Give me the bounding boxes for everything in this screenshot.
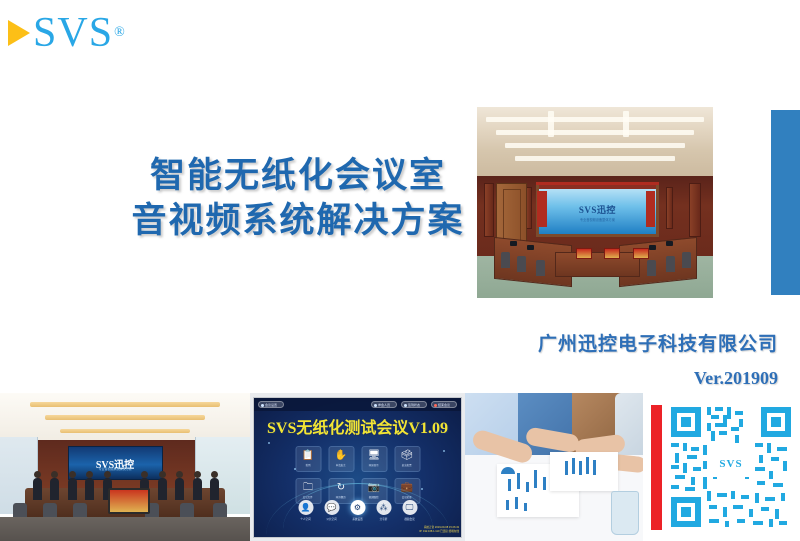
title-line-1: 智能无纸化会议室 [108, 154, 488, 199]
display-icon: 🖵 [402, 500, 417, 515]
page-title: 智能无纸化会议室 音视频系统解决方案 [108, 154, 488, 244]
vote-icon: 🗳 [401, 451, 414, 461]
bottom-image-strip: SVS迅控 专业音视频系统解决方案 [0, 393, 800, 541]
app-tile-表决投票[interactable]: 🗳 表决投票 [394, 446, 420, 472]
accent-bar [771, 110, 800, 295]
led-screen: SVS迅控 专业音视频设备整体方案 [536, 185, 659, 237]
led-screen: SVS迅控 专业音视频系统解决方案 [68, 446, 163, 480]
clipboard-icon: 📋 [302, 451, 314, 461]
floor [0, 517, 250, 541]
dock-label: 公共空间 [326, 517, 336, 521]
panel-paperless-software: 会议设置 参会人员 签到状态 结束会议 SVS无纸化测试会议V1.09 📋 签到 [250, 393, 465, 541]
screen-subtext: 专业音视频系统解决方案 [69, 467, 162, 471]
message-icon: 💬 [324, 500, 339, 515]
software-title: SVS无纸化测试会议V1.09 [254, 414, 461, 438]
company-block: 广州迅控电子科技有限公司 Ver.201909 [538, 329, 778, 389]
qr-center-logo: SVS [711, 451, 751, 477]
app-tile-签到[interactable]: 📋 签到 [295, 446, 321, 472]
topbutton-2[interactable]: 签到状态 [401, 401, 427, 408]
title-line-2: 音视频系统解决方案 [108, 199, 488, 244]
app-label: 申请发言 [336, 463, 346, 467]
settings-icon: ⚙ [350, 500, 365, 515]
app-tile-申请发言[interactable]: ✋ 申请发言 [328, 446, 354, 472]
software-dock: 👤 个人空间 💬 公共空间 ⚙ 系统设置 ⁂ [298, 500, 417, 521]
software-topbar [254, 398, 461, 411]
person-icon: 👤 [298, 500, 313, 515]
topbutton-0[interactable]: 会议设置 [258, 401, 284, 408]
dock-item-视频会议[interactable]: 🖵 视频会议 [402, 500, 417, 521]
company-name: 广州迅控电子科技有限公司 [538, 329, 778, 356]
triangle-icon [8, 20, 30, 46]
screen-subtext: 专业音视频设备整体方案 [539, 217, 656, 222]
dock-label: 系统设置 [352, 517, 362, 521]
laptop [108, 488, 150, 514]
logo-text: SVS [33, 12, 113, 54]
dock-item-公共空间[interactable]: 💬 公共空间 [324, 500, 339, 521]
meeting-photo [465, 393, 643, 541]
version-label: Ver.201909 [538, 368, 778, 389]
panel-conference-room-photo: SVS迅控 专业音视频系统解决方案 [0, 393, 250, 541]
registered-trademark-icon: ® [114, 25, 125, 41]
hand-raise-icon: ✋ [335, 451, 347, 461]
status-line-2: IP: 192.168.1.110 已连接 终端在线 [419, 530, 459, 534]
software-status: 系统正常 2019-09-08 15:26:43 IP: 192.168.1.1… [419, 526, 459, 534]
app-label: 签到 [306, 463, 311, 467]
qr-code-image: SVS [669, 405, 793, 529]
ceiling [477, 107, 713, 180]
software-screen: 会议设置 参会人员 签到状态 结束会议 SVS无纸化测试会议V1.09 📋 签到 [253, 397, 462, 538]
topbutton-1[interactable]: 参会人员 [371, 401, 397, 408]
red-accent-bar [651, 405, 662, 530]
dock-label: 分享屏 [380, 517, 388, 521]
slide-root: SVS ® 智能无纸化会议室 音视频系统解决方案 广州迅控电子科技有限公司 Ve… [0, 0, 800, 541]
dock-label: 视频会议 [404, 517, 414, 521]
app-label: 表决投票 [402, 463, 412, 467]
share-icon: ⁂ [376, 500, 391, 515]
panel-business-meeting-photo [465, 393, 643, 541]
topbutton-3[interactable]: 结束会议 [431, 401, 457, 408]
svs-logo: SVS ® [8, 10, 125, 56]
panel-qr-code: SVS [643, 393, 800, 541]
screen-share-icon: 🖥 [368, 451, 381, 461]
app-label: 同屏显示 [369, 463, 379, 467]
dock-item-分享屏[interactable]: ⁂ 分享屏 [376, 500, 391, 521]
screen-text: SVS迅控 [539, 203, 656, 216]
hero-conference-room-image: SVS迅控 专业音视频设备整体方案 [477, 107, 713, 298]
dock-item-个人空间[interactable]: 👤 个人空间 [298, 500, 313, 521]
dock-label: 个人空间 [300, 517, 310, 521]
app-tile-同屏显示[interactable]: 🖥 同屏显示 [361, 446, 387, 472]
dock-item-系统设置[interactable]: ⚙ 系统设置 [350, 500, 365, 521]
